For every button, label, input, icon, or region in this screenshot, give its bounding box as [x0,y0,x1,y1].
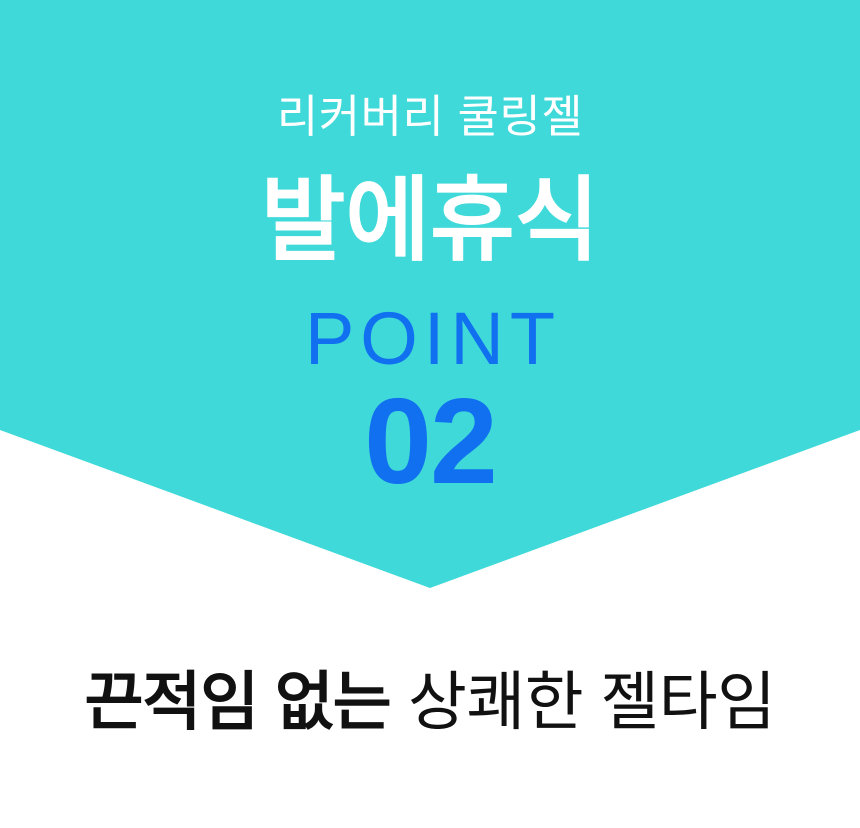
hero-content: 리커버리 쿨링젤 발에휴식 POINT 02 [0,0,860,500]
hero-title: 발에휴식 [0,172,860,271]
point-label: POINT [0,302,860,376]
hero-eyebrow: 리커버리 쿨링젤 [0,93,860,140]
point-number: 02 [0,380,860,502]
caption: 끈적임 없는 상쾌한 젤타임 [0,666,860,740]
caption-light-part: 상쾌한 젤타임 [391,666,776,738]
caption-bold-part: 끈적임 없는 [84,666,390,738]
promo-banner: 리커버리 쿨링젤 발에휴식 POINT 02 끈적임 없는 상쾌한 젤타임 [0,0,860,828]
